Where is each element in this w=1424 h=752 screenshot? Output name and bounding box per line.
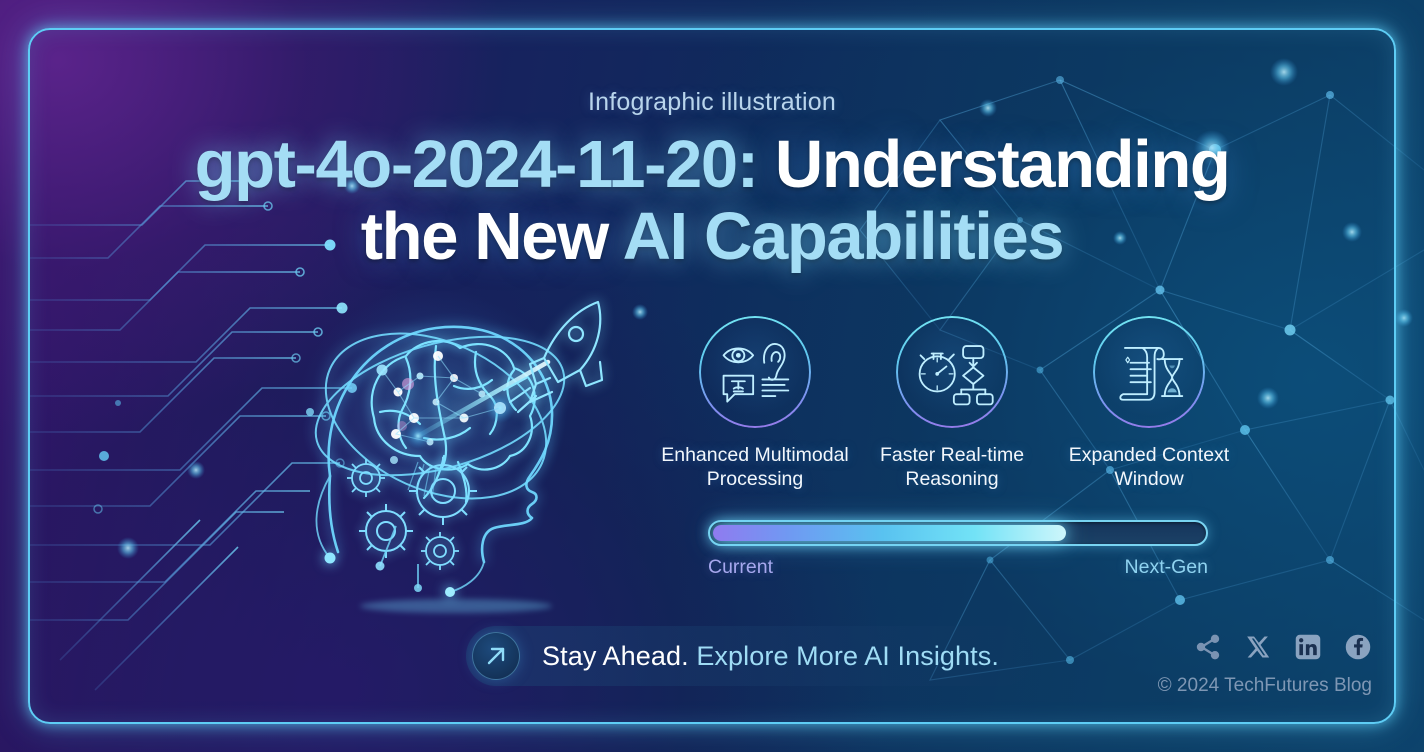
context-window-icon — [1093, 316, 1205, 428]
arrow-up-right-icon — [472, 632, 520, 680]
progress-labels: Current Next-Gen — [708, 556, 1208, 579]
translate-bubble-icon — [724, 376, 754, 402]
feature-label-line1: Faster Real-time — [880, 444, 1024, 466]
feature-reasoning[interactable]: Faster Real-time Reasoning — [857, 316, 1047, 492]
feature-label: Faster Real-time Reasoning — [857, 444, 1047, 492]
title-line2-accent: AI Capabilities — [623, 199, 1064, 274]
progress-track[interactable] — [708, 520, 1208, 546]
infographic-canvas: Infographic illustration gpt-4o-2024-11-… — [0, 0, 1424, 752]
eyebrow-label: Infographic illustration — [0, 88, 1424, 117]
facebook-icon[interactable] — [1344, 633, 1372, 661]
progress-label-nextgen: Next-Gen — [1125, 556, 1208, 579]
feature-label-line2: Reasoning — [905, 468, 998, 490]
feature-label-line1: Expanded Context — [1069, 444, 1229, 466]
feature-context-window[interactable]: Expanded Context Window — [1054, 316, 1244, 492]
page-title: gpt-4o-2024-11-20: Understanding the New… — [0, 129, 1424, 272]
linkedin-icon[interactable] — [1294, 633, 1322, 661]
feature-label-line2: Window — [1114, 468, 1183, 490]
title-model-name: gpt-4o-2024-11-20: — [195, 127, 758, 202]
multimodal-icon — [699, 316, 811, 428]
cta-banner[interactable]: Stay Ahead. Explore More AI Insights. — [466, 626, 1033, 686]
cta-text: Stay Ahead. Explore More AI Insights. — [542, 641, 999, 672]
cta-lead: Stay Ahead. — [542, 641, 689, 671]
scroll-document-icon — [1120, 348, 1163, 400]
cta-link[interactable]: Explore More AI Insights. — [696, 641, 999, 671]
feature-list: Enhanced Multimodal Processing — [660, 316, 1244, 492]
x-twitter-icon[interactable] — [1244, 633, 1272, 661]
text-lines-icon — [762, 379, 788, 396]
base-glow — [360, 599, 552, 613]
progress-section: Current Next-Gen — [708, 520, 1208, 579]
feature-label: Expanded Context Window — [1054, 444, 1244, 492]
hourglass-icon — [1162, 359, 1182, 396]
ai-brain-illustration — [268, 266, 648, 626]
stopwatch-icon — [920, 354, 955, 392]
realtime-reasoning-icon — [896, 316, 1008, 428]
progress-label-current: Current — [708, 556, 773, 579]
header: Infographic illustration gpt-4o-2024-11-… — [0, 88, 1424, 272]
copyright-text: © 2024 TechFutures Blog — [1158, 675, 1372, 697]
progress-fill — [713, 525, 1066, 541]
title-rest: Understanding — [758, 127, 1230, 202]
feature-label: Enhanced Multimodal Processing — [660, 444, 850, 492]
feature-label-line1: Enhanced Multimodal — [661, 444, 849, 466]
ear-icon — [764, 344, 785, 380]
flowchart-icon — [954, 346, 993, 404]
social-links — [1194, 633, 1372, 661]
feature-multimodal[interactable]: Enhanced Multimodal Processing — [660, 316, 850, 492]
title-line2-lead: the New — [361, 199, 623, 274]
feature-label-line2: Processing — [707, 468, 803, 490]
share-icon[interactable] — [1194, 633, 1222, 661]
eye-icon — [724, 348, 754, 362]
